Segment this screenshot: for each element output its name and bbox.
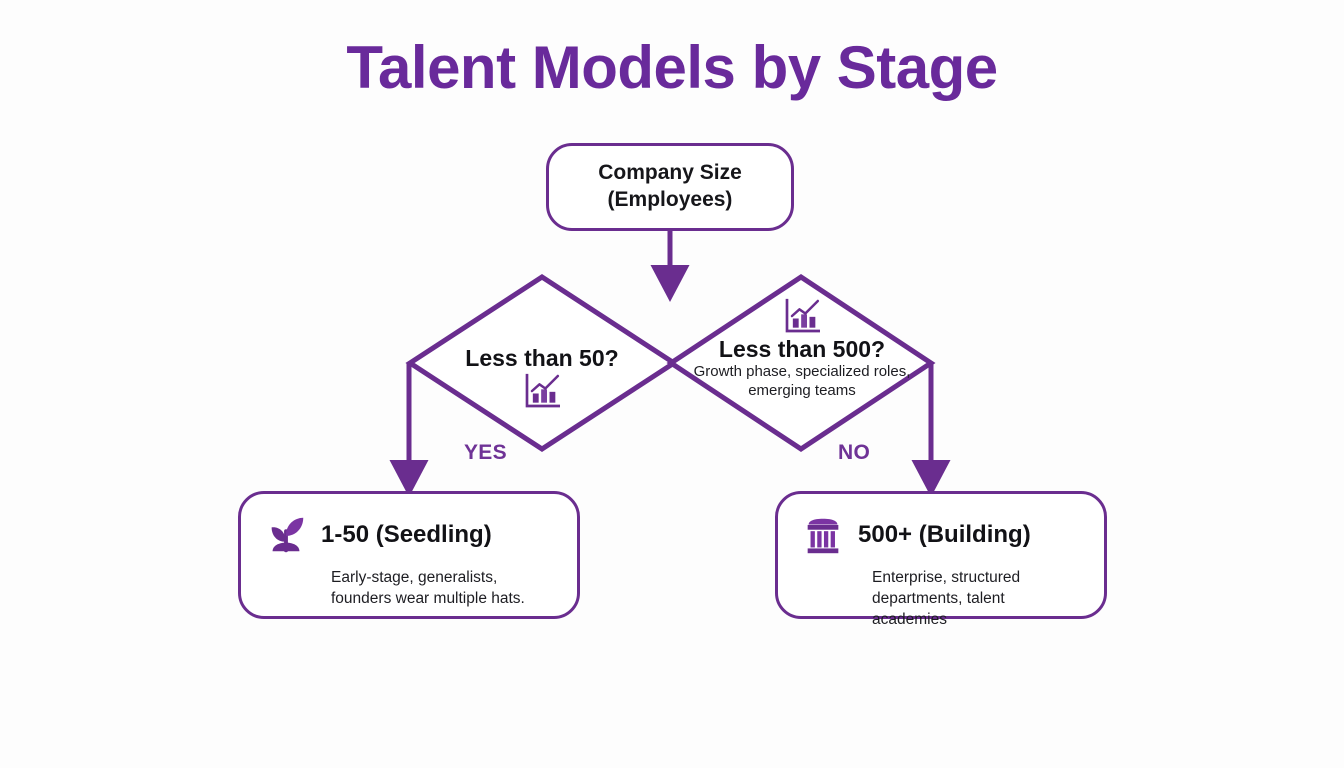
decision-diamond-less-than-50[interactable] [410, 277, 674, 449]
outcome-title-seedling: 1-50 (Seedling) [321, 522, 492, 548]
outcome-node-seedling[interactable]: 1-50 (Seedling) Early-stage, generalists… [238, 491, 580, 619]
start-node-line-2: (Employees) [598, 187, 742, 214]
bank-building-icon [800, 512, 846, 558]
connector-layer [0, 0, 1344, 768]
outcome-title-building: 500+ (Building) [858, 522, 1031, 548]
flowchart-canvas: Talent Models by Stage Company Size (Emp… [0, 0, 1344, 768]
start-node-line-1: Company Size [598, 160, 742, 187]
outcome-description-building: Enterprise, structured departments, tale… [800, 568, 1082, 630]
outcome-node-building[interactable]: 500+ (Building) Enterprise, structured d… [775, 491, 1107, 619]
branch-label-yes: YES [464, 441, 507, 465]
start-node-company-size[interactable]: Company Size (Employees) [546, 143, 794, 231]
outcome-description-seedling: Early-stage, generalists, founders wear … [263, 568, 555, 610]
decision-diamond-less-than-500[interactable] [671, 277, 931, 449]
seedling-icon [263, 512, 309, 558]
branch-label-no: NO [838, 441, 870, 465]
